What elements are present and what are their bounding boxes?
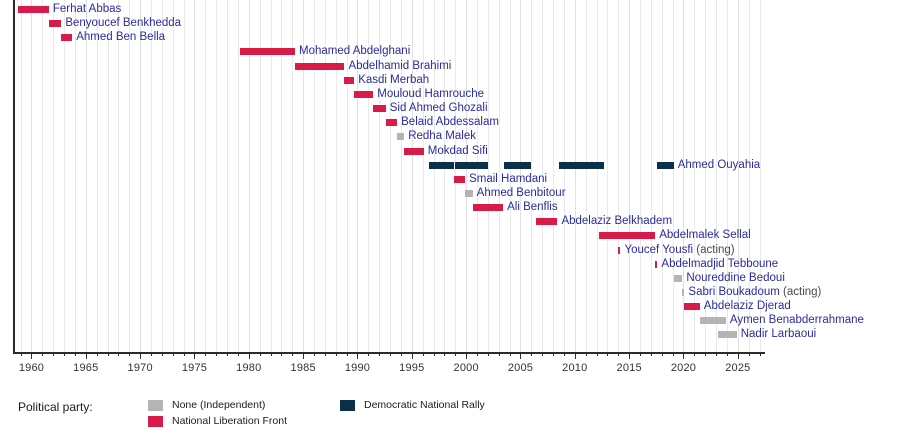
timeline-row-label: Noureddine Bedoui	[686, 271, 784, 286]
person-name: Belaid Abdessalam	[401, 116, 499, 128]
timeline-row[interactable]: Ahmed Ouyahia	[13, 158, 765, 173]
legend-title: Political party:	[18, 400, 93, 414]
tick-1997	[434, 352, 435, 356]
tick-2023	[716, 352, 717, 356]
tick-2000	[466, 352, 467, 359]
tick-label-1980: 1980	[236, 362, 261, 374]
timeline-row[interactable]: Sid Ahmed Ghozali	[13, 101, 765, 116]
timeline-bar[interactable]	[344, 77, 354, 84]
timeline-row[interactable]: Abdelmadjid Tebboune	[13, 257, 765, 272]
tick-label-1960: 1960	[19, 362, 44, 374]
person-name: Youcef Yousfi	[624, 244, 693, 256]
tick-1962	[53, 352, 54, 356]
timeline-chart: Ferhat AbbasBenyoucef BenkheddaAhmed Ben…	[0, 0, 900, 433]
tick-1960	[31, 352, 32, 359]
timeline-row-label: Abdelmadjid Tebboune	[661, 257, 778, 272]
timeline-bar[interactable]	[559, 162, 605, 169]
legend-swatch-icon	[148, 416, 163, 427]
timeline-row-label: Ali Benflis	[507, 200, 558, 215]
tick-2022	[705, 352, 706, 356]
tick-2017	[651, 352, 652, 356]
person-name: Mokdad Sifi	[428, 145, 488, 157]
person-name: Mohamed Abdelghani	[299, 45, 410, 57]
tick-2010	[575, 352, 576, 359]
tick-1969	[129, 352, 130, 356]
timeline-row[interactable]: Abdelaziz Belkhadem	[13, 214, 765, 229]
person-name: Mouloud Hamrouche	[377, 88, 484, 100]
tick-1973	[173, 352, 174, 356]
timeline-row[interactable]: Ferhat Abbas	[13, 2, 765, 17]
legend-label: None (Independent)	[172, 398, 265, 412]
tick-2007	[542, 352, 543, 356]
timeline-row[interactable]: Belaid Abdessalam	[13, 115, 765, 130]
tick-2026	[749, 352, 750, 356]
timeline-row-label: Abdelhamid Brahimi	[348, 59, 451, 74]
timeline-bar[interactable]	[240, 48, 295, 55]
timeline-row[interactable]: Redha Malek	[13, 129, 765, 144]
tick-1968	[118, 352, 119, 356]
timeline-bar[interactable]	[657, 162, 673, 169]
tick-1981	[260, 352, 261, 356]
timeline-bar[interactable]	[682, 289, 684, 296]
timeline-bar[interactable]	[373, 105, 385, 112]
timeline-row[interactable]: Mohamed Abdelghani	[13, 44, 765, 59]
timeline-row-label: Ahmed Ben Bella	[76, 30, 165, 45]
tick-1974	[184, 352, 185, 356]
timeline-row[interactable]: Abdelaziz Djerad	[13, 299, 765, 314]
tick-2024	[727, 352, 728, 356]
tick-label-2025: 2025	[725, 362, 750, 374]
tick-1991	[368, 352, 369, 356]
legend-label: Democratic National Rally	[364, 398, 485, 412]
timeline-row-label: Benyoucef Benkhedda	[65, 16, 181, 31]
timeline-bar[interactable]	[61, 34, 72, 41]
timeline-row-label: Mohamed Abdelghani	[299, 44, 410, 59]
tick-label-1990: 1990	[345, 362, 370, 374]
tick-1988	[336, 352, 337, 356]
tick-1990	[357, 352, 358, 359]
timeline-row-label: Abdelaziz Djerad	[704, 299, 791, 314]
tick-1982	[271, 352, 272, 356]
tick-1994	[401, 352, 402, 356]
plot-area: Ferhat AbbasBenyoucef BenkheddaAhmed Ben…	[13, 0, 765, 352]
timeline-bar[interactable]	[618, 247, 620, 254]
timeline-row-label: Redha Malek	[408, 129, 476, 144]
timeline-row-label: Abdelmalek Sellal	[659, 228, 750, 243]
timeline-bar[interactable]	[404, 148, 424, 155]
timeline-bar[interactable]	[684, 303, 700, 310]
person-name: Ali Benflis	[507, 201, 558, 213]
person-name: Ahmed Ben Bella	[76, 31, 165, 43]
tick-2018	[662, 352, 663, 356]
person-name: Smail Hamdani	[469, 173, 547, 185]
tick-2020	[683, 352, 684, 359]
person-name: Ferhat Abbas	[53, 3, 121, 15]
timeline-row[interactable]: Sabri Boukadoum (acting)	[13, 285, 765, 300]
timeline-row-label: Sid Ahmed Ghozali	[390, 101, 488, 116]
legend-swatch-icon	[340, 400, 355, 411]
tick-1985	[303, 352, 304, 359]
timeline-row[interactable]: Smail Hamdani	[13, 172, 765, 187]
tick-1979	[238, 352, 239, 356]
timeline-bar[interactable]	[18, 6, 49, 13]
tick-label-2015: 2015	[617, 362, 642, 374]
tick-1970	[140, 352, 141, 359]
timeline-bar[interactable]	[700, 317, 726, 324]
timeline-row[interactable]: Ali Benflis	[13, 200, 765, 215]
timeline-row-label: Smail Hamdani	[469, 172, 547, 187]
person-name: Abdelmalek Sellal	[659, 229, 750, 241]
tick-2027	[760, 352, 761, 356]
tick-1999	[455, 352, 456, 356]
timeline-bar[interactable]	[466, 162, 488, 169]
tick-2019	[673, 352, 674, 356]
timeline-row[interactable]: Ahmed Benbitour	[13, 186, 765, 201]
tick-1965	[86, 352, 87, 359]
timeline-row-label: Kasdi Merbah	[358, 73, 429, 88]
timeline-row-label: Mouloud Hamrouche	[377, 87, 484, 102]
tick-1992	[379, 352, 380, 356]
timeline-row[interactable]: Abdelhamid Brahimi	[13, 59, 765, 74]
timeline-bar[interactable]	[718, 331, 736, 338]
tick-1983	[281, 352, 282, 356]
timeline-row[interactable]: Aymen Benabderrahmane	[13, 313, 765, 328]
person-name: Sid Ahmed Ghozali	[390, 102, 488, 114]
person-name: Ahmed Benbitour	[477, 187, 566, 199]
timeline-bar[interactable]	[49, 20, 61, 27]
tick-label-1995: 1995	[399, 362, 424, 374]
timeline-row[interactable]: Noureddine Bedoui	[13, 271, 765, 286]
tick-1959	[21, 352, 22, 356]
timeline-row-label: Ahmed Ouyahia	[678, 158, 760, 173]
tick-2021	[694, 352, 695, 356]
tick-1967	[108, 352, 109, 356]
person-name: Abdelaziz Djerad	[704, 300, 791, 312]
tick-1966	[97, 352, 98, 356]
timeline-row[interactable]: Mokdad Sifi	[13, 144, 765, 159]
person-name: Abdelmadjid Tebboune	[661, 258, 778, 270]
timeline-row[interactable]: Nadir Larbaoui	[13, 327, 765, 342]
legend: Political party: None (Independent)Natio…	[0, 396, 900, 433]
timeline-bar[interactable]	[473, 204, 503, 211]
timeline-bar[interactable]	[295, 63, 344, 70]
tick-2008	[553, 352, 554, 356]
acting-suffix: (acting)	[780, 286, 822, 298]
tick-label-1975: 1975	[182, 362, 207, 374]
tick-2012	[597, 352, 598, 356]
tick-1996	[423, 352, 424, 356]
person-name: Ahmed Ouyahia	[678, 159, 760, 171]
person-name: Sabri Boukadoum	[688, 286, 779, 298]
tick-1986	[314, 352, 315, 356]
tick-1993	[390, 352, 391, 356]
person-name: Aymen Benabderrahmane	[730, 314, 864, 326]
tick-1987	[325, 352, 326, 356]
timeline-bar[interactable]	[429, 162, 454, 169]
timeline-row[interactable]: Kasdi Merbah	[13, 73, 765, 88]
timeline-row[interactable]: Ahmed Ben Bella	[13, 30, 765, 45]
tick-2025	[738, 352, 739, 359]
timeline-row[interactable]: Mouloud Hamrouche	[13, 87, 765, 102]
timeline-bar[interactable]	[354, 91, 373, 98]
tick-label-2005: 2005	[508, 362, 533, 374]
person-name: Nadir Larbaoui	[741, 328, 816, 340]
timeline-bar[interactable]	[454, 176, 465, 183]
timeline-row-label: Ahmed Benbitour	[477, 186, 566, 201]
timeline-row-label: Youcef Yousfi (acting)	[624, 243, 734, 258]
tick-2016	[640, 352, 641, 356]
timeline-row-label: Nadir Larbaoui	[741, 327, 816, 342]
timeline-bar[interactable]	[455, 162, 466, 169]
tick-2014	[618, 352, 619, 356]
tick-1972	[162, 352, 163, 356]
tick-2005	[520, 352, 521, 359]
timeline-row-label: Sabri Boukadoum (acting)	[688, 285, 821, 300]
timeline-row-label: Belaid Abdessalam	[401, 115, 499, 130]
tick-2003	[499, 352, 500, 356]
timeline-bar[interactable]	[536, 218, 558, 225]
tick-2002	[488, 352, 489, 356]
acting-suffix: (acting)	[693, 244, 735, 256]
person-name: Redha Malek	[408, 130, 476, 142]
tick-1964	[75, 352, 76, 356]
person-name: Kasdi Merbah	[358, 74, 429, 86]
person-name: Noureddine Bedoui	[686, 272, 784, 284]
tick-1961	[42, 352, 43, 356]
tick-1984	[292, 352, 293, 356]
tick-1978	[227, 352, 228, 356]
timeline-bar[interactable]	[397, 133, 404, 140]
tick-1980	[249, 352, 250, 359]
timeline-row-label: Abdelaziz Belkhadem	[561, 214, 672, 229]
timeline-row-label: Ferhat Abbas	[53, 2, 121, 17]
x-axis-line	[13, 352, 765, 354]
tick-2013	[607, 352, 608, 356]
tick-2001	[477, 352, 478, 356]
tick-label-1965: 1965	[73, 362, 98, 374]
timeline-bar[interactable]	[655, 261, 657, 268]
timeline-row-label: Aymen Benabderrahmane	[730, 313, 864, 328]
tick-1963	[64, 352, 65, 356]
tick-2015	[629, 352, 630, 359]
tick-1989	[347, 352, 348, 356]
timeline-row[interactable]: Youcef Yousfi (acting)	[13, 243, 765, 258]
tick-2006	[531, 352, 532, 356]
timeline-bar[interactable]	[599, 232, 656, 239]
person-name: Abdelhamid Brahimi	[348, 60, 451, 72]
tick-1976	[205, 352, 206, 356]
timeline-row[interactable]: Abdelmalek Sellal	[13, 228, 765, 243]
timeline-row-label: Mokdad Sifi	[428, 144, 488, 159]
legend-swatch-icon	[148, 400, 163, 411]
legend-label: National Liberation Front	[172, 414, 287, 428]
tick-2004	[510, 352, 511, 356]
tick-1998	[444, 352, 445, 356]
tick-1975	[194, 352, 195, 359]
timeline-bar[interactable]	[386, 119, 397, 126]
tick-label-2010: 2010	[562, 362, 587, 374]
person-name: Abdelaziz Belkhadem	[561, 215, 672, 227]
tick-label-2000: 2000	[454, 362, 479, 374]
timeline-bar[interactable]	[465, 190, 473, 197]
tick-1995	[412, 352, 413, 359]
tick-label-2020: 2020	[671, 362, 696, 374]
tick-1977	[216, 352, 217, 356]
tick-label-1985: 1985	[291, 362, 316, 374]
tick-1971	[151, 352, 152, 356]
timeline-bar[interactable]	[674, 275, 683, 282]
tick-label-1970: 1970	[128, 362, 153, 374]
timeline-row[interactable]: Benyoucef Benkhedda	[13, 16, 765, 31]
person-name: Benyoucef Benkhedda	[65, 17, 181, 29]
timeline-bar[interactable]	[504, 162, 531, 169]
tick-2009	[564, 352, 565, 356]
tick-2011	[586, 352, 587, 356]
